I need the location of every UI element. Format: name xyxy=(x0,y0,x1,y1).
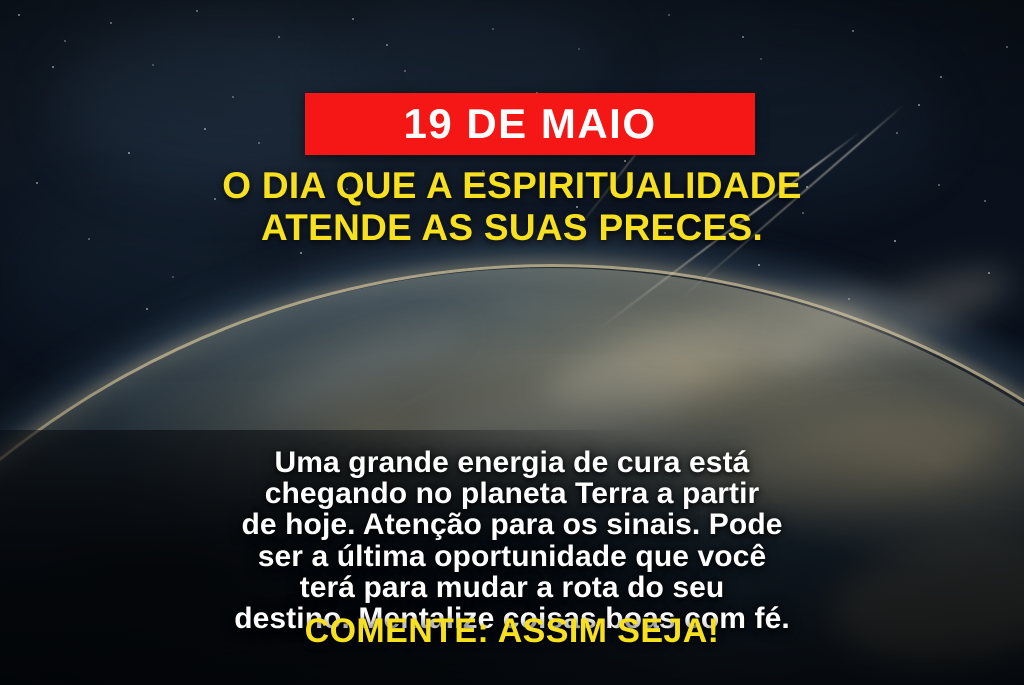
body-copy: Uma grande energia de cura está chegando… xyxy=(0,447,1024,634)
call-to-action: COMENTE: ASSIM SEJA! xyxy=(0,614,1024,648)
body-copy-line-2: chegando no planeta Terra a partir xyxy=(44,478,980,509)
body-copy-line-4: ser a última oportunidade que você xyxy=(44,541,980,572)
date-banner: 19 DE MAIO xyxy=(305,93,755,155)
poster-content: 19 DE MAIO O DIA QUE A ESPIRITUALIDADE A… xyxy=(0,0,1024,685)
headline: O DIA QUE A ESPIRITUALIDADE ATENDE AS SU… xyxy=(0,165,1024,249)
headline-line-1: O DIA QUE A ESPIRITUALIDADE xyxy=(40,165,984,207)
date-banner-text: 19 DE MAIO xyxy=(403,103,656,145)
poster-canvas: 19 DE MAIO O DIA QUE A ESPIRITUALIDADE A… xyxy=(0,0,1024,685)
body-copy-line-1: Uma grande energia de cura está xyxy=(44,447,980,478)
headline-line-2: ATENDE AS SUAS PRECES. xyxy=(40,207,984,249)
body-copy-line-3: de hoje. Atenção para os sinais. Pode xyxy=(44,509,980,540)
call-to-action-text: COMENTE: ASSIM SEJA! xyxy=(305,612,720,650)
body-copy-line-5: terá para mudar a rota do seu xyxy=(44,572,980,603)
